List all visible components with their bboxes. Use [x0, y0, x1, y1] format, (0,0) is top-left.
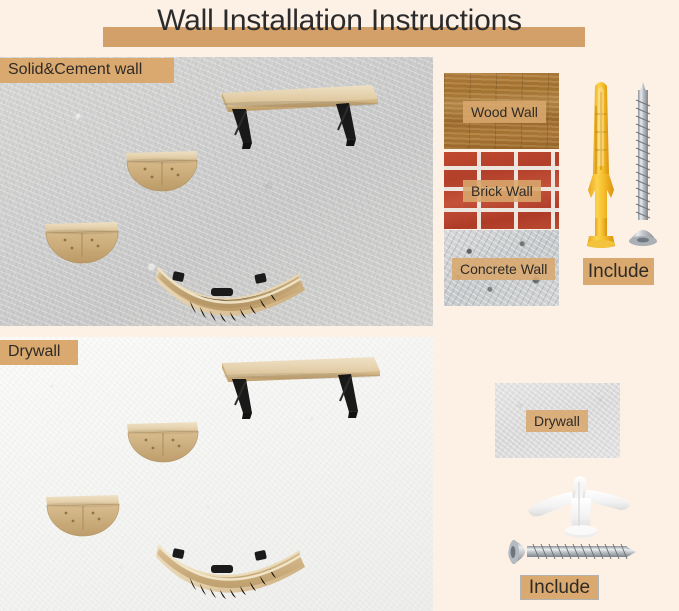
page-title: Wall Installation Instructions: [0, 4, 679, 38]
wall-step-halfmoon-lower: [45, 222, 119, 263]
include-label-drywall: Include: [520, 575, 599, 600]
page-header: Wall Installation Instructions: [0, 0, 679, 56]
cement-wall-shelf-photo: Solid&Cement wall: [0, 57, 433, 326]
wall-bridge-curved: [156, 268, 305, 322]
swatch-label-concrete-wall: Concrete Wall: [452, 258, 555, 280]
wall-step-halfmoon-upper: [127, 422, 199, 462]
wall-bridge-curved: [156, 545, 305, 599]
silver-wood-screw-vertical: [626, 80, 660, 250]
swatch-wood-wall: Wood Wall: [444, 73, 559, 149]
include-label-solid-cement: Include: [583, 258, 654, 285]
white-toggle-anchor: [524, 468, 636, 548]
swatch-label-drywall: Drywall: [526, 410, 588, 432]
wall-step-halfmoon-upper: [126, 151, 198, 191]
infographic-page: Wall Installation Instructions: [0, 0, 679, 611]
wall-step-halfmoon-lower: [46, 495, 120, 536]
silver-wood-screw-horizontal: [493, 538, 638, 568]
swatch-label-brick-wall: Brick Wall: [463, 180, 541, 202]
drywall-shelf-photo: Drywall: [0, 337, 433, 611]
wall-shelf-rectangular: [222, 85, 378, 149]
yellow-expansion-anchor: [578, 78, 624, 250]
section-label-solid-cement: Solid&Cement wall: [0, 58, 174, 83]
swatch-concrete-wall: Concrete Wall: [444, 230, 559, 306]
cement-shelf-illustration: [0, 57, 433, 326]
swatch-drywall: Drywall: [495, 383, 620, 458]
drywall-shelf-illustration: [0, 337, 433, 611]
swatch-label-wood-wall: Wood Wall: [463, 101, 546, 123]
wall-shelf-rectangular: [222, 357, 381, 419]
swatch-brick-wall: Brick Wall: [444, 152, 559, 229]
section-label-drywall: Drywall: [0, 340, 78, 365]
